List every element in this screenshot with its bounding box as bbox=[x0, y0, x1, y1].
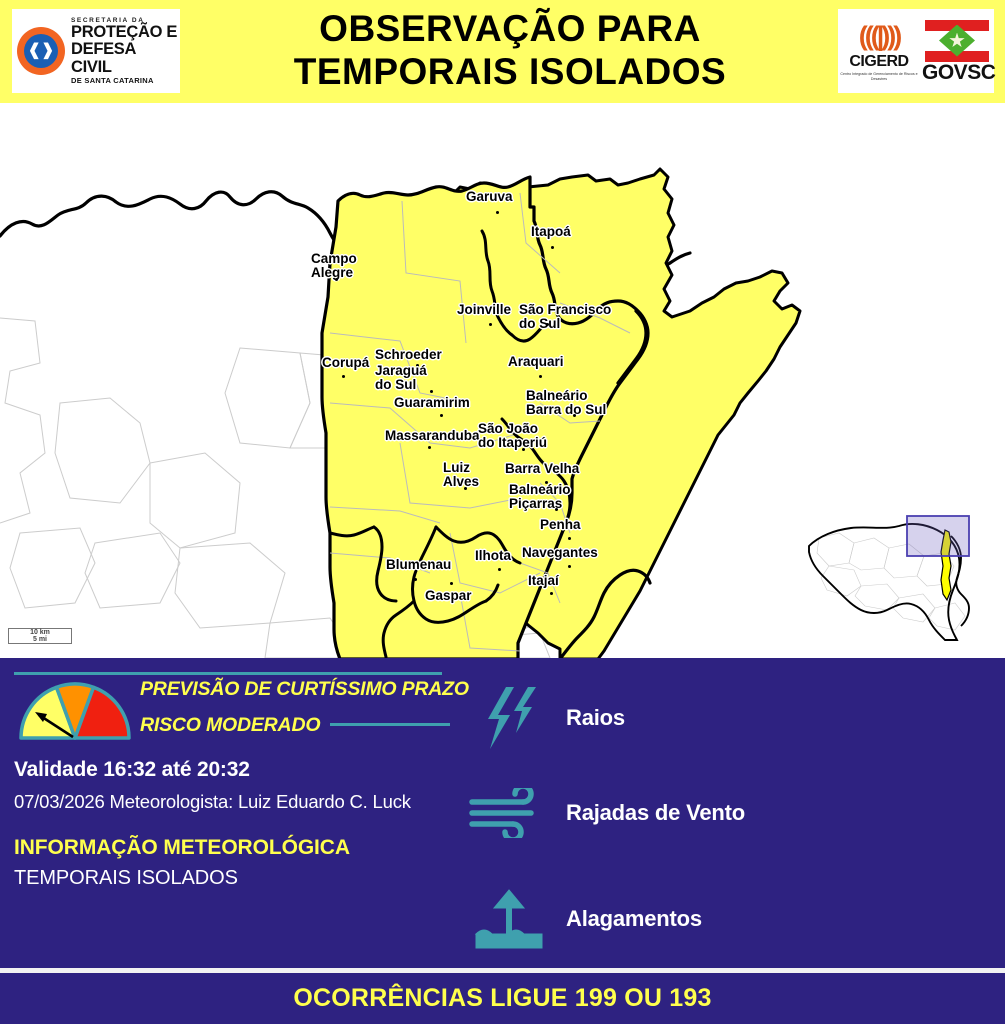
alert-infographic: ❰❱ SECRETARIA DA PROTEÇÃO E DEFESA CIVIL… bbox=[0, 0, 1005, 1024]
scalebar-mi: 5 mi bbox=[8, 636, 72, 644]
divider-line-risk bbox=[330, 723, 450, 726]
map-svg bbox=[0, 103, 1005, 658]
city-label: BalneárioBarra do Sul bbox=[526, 389, 606, 418]
logo-line3-text: DE SANTA CATARINA bbox=[71, 77, 180, 85]
partner-logos: (((|))) CIGERD Centro Integrado de Geren… bbox=[838, 9, 994, 93]
hazard-label-raios: Raios bbox=[566, 705, 625, 731]
city-marker-dot bbox=[498, 568, 501, 571]
city-label: Ilhota bbox=[475, 549, 511, 563]
wind-icon bbox=[468, 788, 550, 838]
header-banner: ❰❱ SECRETARIA DA PROTEÇÃO E DEFESA CIVIL… bbox=[0, 0, 1005, 103]
hazard-row-raios: Raios bbox=[468, 685, 625, 751]
risk-level-text: RISCO MODERADO bbox=[140, 716, 320, 736]
city-marker-dot bbox=[539, 375, 542, 378]
city-label: Massaranduba bbox=[385, 429, 480, 443]
map-scalebar: 10 km 5 mi bbox=[8, 628, 72, 644]
city-label: Blumenau bbox=[386, 558, 451, 572]
civil-defense-emblem-icon: ❰❱ bbox=[17, 27, 65, 75]
hazard-label-alagamentos: Alagamentos bbox=[566, 906, 702, 932]
page-title-line2: TEMPORAIS ISOLADOS bbox=[190, 51, 830, 94]
hazard-row-vento: Rajadas de Vento bbox=[468, 788, 745, 838]
city-marker-dot bbox=[551, 246, 554, 249]
city-marker-dot bbox=[450, 582, 453, 585]
city-label: Guaramirim bbox=[394, 396, 470, 410]
city-marker-dot bbox=[546, 323, 549, 326]
city-marker-dot bbox=[414, 578, 417, 581]
cigerd-name-text: CIGERD bbox=[840, 53, 918, 71]
emergency-phone-text: OCORRÊNCIAS LIGUE 199 OU 193 bbox=[293, 984, 711, 1013]
city-marker-dot bbox=[464, 487, 467, 490]
forecast-caption: PREVISÃO DE CURTÍSSIMO PRAZO RISCO MODER… bbox=[140, 680, 450, 735]
govsc-gov-text: GOV bbox=[922, 61, 967, 84]
city-label: CampoAlegre bbox=[311, 252, 357, 281]
city-marker-dot bbox=[555, 508, 558, 511]
page-title: OBSERVAÇÃO PARA TEMPORAIS ISOLADOS bbox=[190, 8, 830, 94]
city-marker-dot bbox=[496, 211, 499, 214]
city-marker-dot bbox=[335, 278, 338, 281]
logo-line1-text: PROTEÇÃO E bbox=[71, 24, 180, 41]
footer-banner: OCORRÊNCIAS LIGUE 199 OU 193 bbox=[0, 973, 1005, 1024]
city-label: BalneárioPiçarras bbox=[509, 483, 571, 512]
city-label: Corupá bbox=[322, 356, 369, 370]
city-marker-dot bbox=[489, 323, 492, 326]
city-label: Jaraguádo Sul bbox=[375, 364, 427, 393]
city-label: LuizAlves bbox=[443, 461, 479, 490]
city-label: São Franciscodo Sul bbox=[519, 303, 611, 332]
city-label: Araquari bbox=[508, 355, 564, 369]
hazard-label-vento: Rajadas de Vento bbox=[566, 800, 745, 826]
alert-map[interactable]: 10 km 5 mi bbox=[0, 103, 1005, 658]
page-title-line1: OBSERVAÇÃO PARA bbox=[190, 8, 830, 51]
city-marker-dot bbox=[568, 537, 571, 540]
city-label: Gaspar bbox=[425, 589, 472, 603]
logo-line2-text: DEFESA CIVIL bbox=[71, 41, 180, 75]
city-label: Schroeder bbox=[375, 348, 442, 362]
risk-gauge bbox=[17, 682, 133, 742]
cigerd-logo: (((|))) CIGERD Centro Integrado de Geren… bbox=[840, 21, 918, 82]
divider-line-top bbox=[14, 672, 442, 675]
city-marker-dot bbox=[568, 565, 571, 568]
city-marker-dot bbox=[573, 414, 576, 417]
hazard-row-alagamentos: Alagamentos bbox=[468, 888, 702, 950]
meteorologist-text: 07/03/2026 Meteorologista: Luiz Eduardo … bbox=[14, 791, 411, 813]
flood-icon bbox=[468, 888, 550, 950]
inset-map-graphic bbox=[799, 508, 995, 644]
cigerd-waves-icon: (((|))) bbox=[840, 21, 918, 53]
city-marker-dot bbox=[550, 592, 553, 595]
govsc-logo: GOVSC bbox=[922, 20, 992, 83]
cigerd-tagline-text: Centro Integrado de Gerenciamento de Ris… bbox=[840, 72, 918, 82]
city-marker-dot bbox=[430, 390, 433, 393]
civil-defense-logo: ❰❱ SECRETARIA DA PROTEÇÃO E DEFESA CIVIL… bbox=[12, 9, 180, 93]
met-info-title: INFORMAÇÃO METEOROLÓGICA bbox=[14, 836, 350, 860]
scalebar-km: 10 km bbox=[8, 628, 72, 636]
santa-catarina-flag-icon bbox=[925, 20, 989, 62]
city-marker-dot bbox=[428, 446, 431, 449]
city-label: São Joãodo Itaperiú bbox=[478, 422, 547, 451]
govsc-sc-text: SC bbox=[967, 61, 995, 84]
met-info-text: TEMPORAIS ISOLADOS bbox=[14, 867, 238, 890]
city-marker-dot bbox=[522, 448, 525, 451]
city-label: Itajaí bbox=[528, 574, 559, 588]
city-label: Navegantes bbox=[522, 546, 598, 560]
city-label: Barra Velha bbox=[505, 462, 579, 476]
forecast-title: PREVISÃO DE CURTÍSSIMO PRAZO bbox=[140, 680, 450, 700]
city-label: Penha bbox=[540, 518, 581, 532]
validity-text: Validade 16:32 até 20:32 bbox=[14, 758, 250, 782]
govsc-name-text: GOVSC bbox=[922, 62, 992, 83]
city-label: Joinville bbox=[457, 303, 511, 317]
city-label: Itapoá bbox=[531, 225, 571, 239]
city-label: Garuva bbox=[466, 190, 513, 204]
city-marker-dot bbox=[342, 375, 345, 378]
city-marker-dot bbox=[440, 414, 443, 417]
lightning-icon bbox=[468, 685, 550, 751]
